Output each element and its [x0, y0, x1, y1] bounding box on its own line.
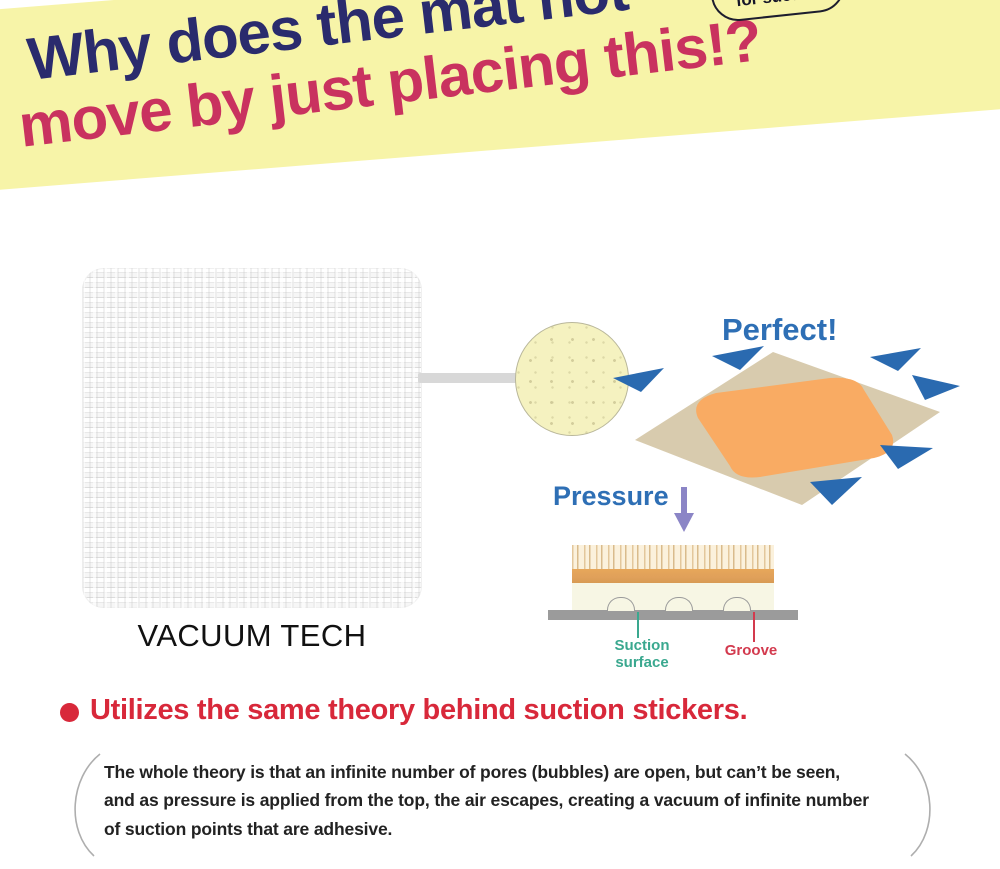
arrow-icon-1 — [613, 368, 664, 392]
mat-caption: VACUUM TECH — [82, 618, 422, 654]
suction-caption-line-1: Suction — [597, 638, 687, 655]
suction-leader-line — [637, 612, 639, 638]
header-banner: Why does the mat not move by just placin… — [0, 0, 1000, 213]
footer-line-3: of suction points that are adhesive. — [104, 815, 904, 843]
footer-paragraph: The whole theory is that an infinite num… — [104, 758, 904, 843]
infographic-canvas: Why does the mat not move by just placin… — [0, 0, 1000, 869]
left-bracket-arc — [60, 752, 106, 858]
arrow-icon-3 — [870, 348, 921, 371]
arrow-icon-4 — [912, 375, 960, 400]
header-banner-text-group: Why does the mat not move by just placin… — [0, 0, 1000, 193]
pressure-label: Pressure — [553, 481, 669, 512]
just-place-badge-text: Just place for suction — [733, 0, 822, 11]
right-bracket-arc — [899, 752, 945, 858]
fiber-layer — [572, 545, 774, 569]
bullet-heading: Utilizes the same theory behind suction … — [60, 694, 747, 727]
badge-line-2: for suction — [735, 0, 822, 11]
cross-section-diagram — [548, 540, 798, 635]
suction-surface-caption: Suction surface — [597, 638, 687, 672]
arrow-icon-5 — [880, 445, 933, 469]
floor-bar — [548, 610, 798, 620]
bullet-dot-icon — [60, 703, 79, 722]
suction-caption-line-2: surface — [597, 655, 687, 672]
footer-line-1: The whole theory is that an infinite num… — [104, 758, 904, 786]
mat-texture-overlay — [82, 268, 422, 608]
bullet-heading-text: Utilizes the same theory behind suction … — [90, 694, 747, 727]
footer-description-block: The whole theory is that an infinite num… — [60, 752, 945, 858]
pressure-down-arrow-icon — [672, 487, 696, 532]
footer-line-2: and as pressure is applied from the top,… — [104, 786, 904, 814]
groove-leader-line — [753, 612, 755, 642]
groove-caption: Groove — [706, 642, 796, 659]
orange-layer — [572, 569, 774, 583]
vacuum-mat-image — [82, 268, 422, 608]
